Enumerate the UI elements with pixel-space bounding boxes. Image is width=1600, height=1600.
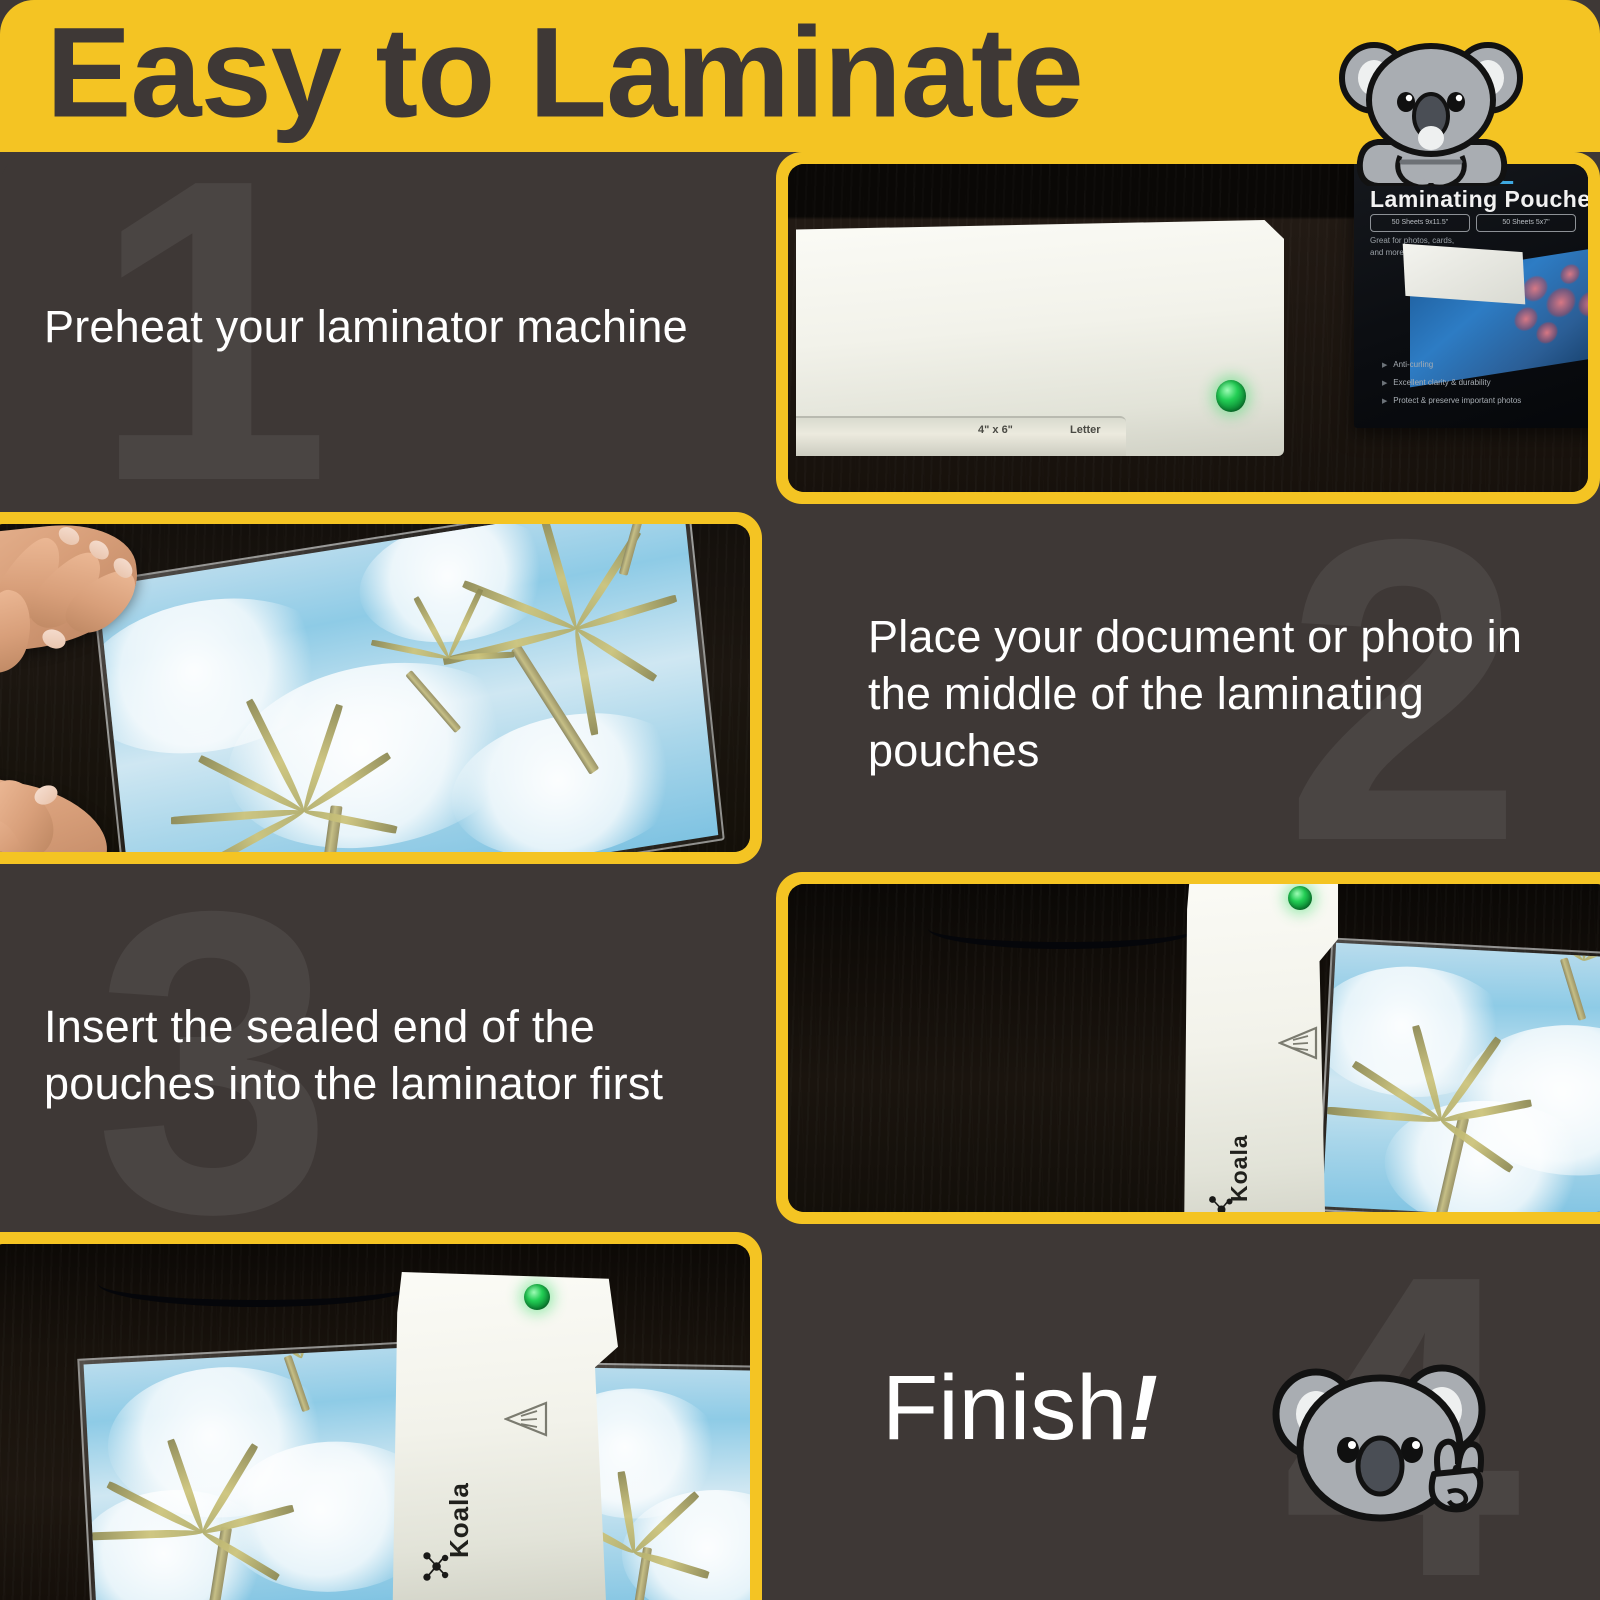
laminating-pouches-package: THERMAL Laminating Pouches 50 Sheets 9x1… <box>1354 164 1588 428</box>
step-2-photo <box>0 524 750 852</box>
step-2-photo-panel <box>0 512 762 864</box>
palm-tree-photo <box>1322 943 1600 1212</box>
step-3-text-panel: 3 Insert the sealed end of the pouches i… <box>0 872 762 1224</box>
page-title: Easy to Laminate <box>46 9 1083 137</box>
package-subtitle-2: and more <box>1370 248 1404 257</box>
hot-surface-warning-icon <box>1278 1026 1320 1065</box>
palm-tree-photo <box>84 1348 415 1600</box>
power-led-icon <box>1216 380 1246 412</box>
koala-mascot-icon <box>1338 26 1524 186</box>
package-feature-2: Excellent clarity & durability <box>1382 378 1491 387</box>
power-cord <box>98 1260 418 1307</box>
step-3-text: Insert the sealed end of the pouches int… <box>44 998 734 1112</box>
power-led-icon <box>1288 886 1312 910</box>
laminator-feed-slot <box>796 416 1126 458</box>
package-chip-2: 50 Sheets 5x7" <box>1476 214 1576 232</box>
size-label-large: Letter <box>1070 424 1101 436</box>
koala-logo-mark <box>422 1551 455 1583</box>
step-1-text-panel: 1 Preheat your laminator machine <box>0 152 762 504</box>
step-4-photo-panel: Koala <box>0 1232 762 1600</box>
laminator-brand-label: Koala <box>444 1482 475 1558</box>
step-2-text: Place your document or photo in the midd… <box>868 608 1528 779</box>
finish-word: Finish <box>882 1357 1127 1459</box>
step-2-text-panel: 2 Place your document or photo in the mi… <box>776 512 1600 864</box>
package-title-text: Laminating Pouches <box>1370 186 1588 213</box>
finish-exclamation: ! <box>1127 1357 1158 1459</box>
hot-surface-warning-icon <box>504 1400 550 1443</box>
step-1-photo: 4" x 6" Letter THERMAL Laminating Pouche… <box>788 164 1588 492</box>
finish-panel: 4 Finish! <box>776 1232 1600 1600</box>
laminating-pouch-sheet <box>91 524 725 852</box>
finish-label: Finish! <box>882 1356 1158 1461</box>
laminator-brand-label: Koala <box>1226 1134 1253 1202</box>
peace-hand <box>1432 1442 1481 1510</box>
step-4-photo: Koala <box>0 1244 750 1600</box>
package-chip-1: 50 Sheets 9x11.5" <box>1370 214 1470 232</box>
laminator-machine: Koala <box>1184 884 1338 1212</box>
package-artwork-sheet <box>1403 244 1526 305</box>
step-1-photo-panel: 4" x 6" Letter THERMAL Laminating Pouche… <box>776 152 1600 504</box>
step-1-text: Preheat your laminator machine <box>44 298 744 355</box>
power-led-icon <box>524 1284 550 1310</box>
koala-peace-icon <box>1270 1352 1500 1552</box>
laminator-machine: 4" x 6" Letter <box>796 220 1284 456</box>
package-feature-1: Anti-curling <box>1382 360 1433 369</box>
laminated-photo-output <box>1317 937 1600 1212</box>
step-3-photo-panel: Koala <box>776 872 1600 1224</box>
package-feature-3: Protect & preserve important photos <box>1382 396 1521 405</box>
palm-tree-photo <box>98 524 719 852</box>
koala-logo-mark <box>1208 1195 1239 1213</box>
infographic-poster: Easy to Laminate 1 <box>0 0 1600 1600</box>
laminator-machine: Koala <box>388 1272 618 1600</box>
size-label-small: 4" x 6" <box>978 424 1013 436</box>
step-3-photo: Koala <box>788 884 1600 1212</box>
finished-laminated-photo <box>77 1342 420 1600</box>
power-cord <box>928 908 1198 949</box>
